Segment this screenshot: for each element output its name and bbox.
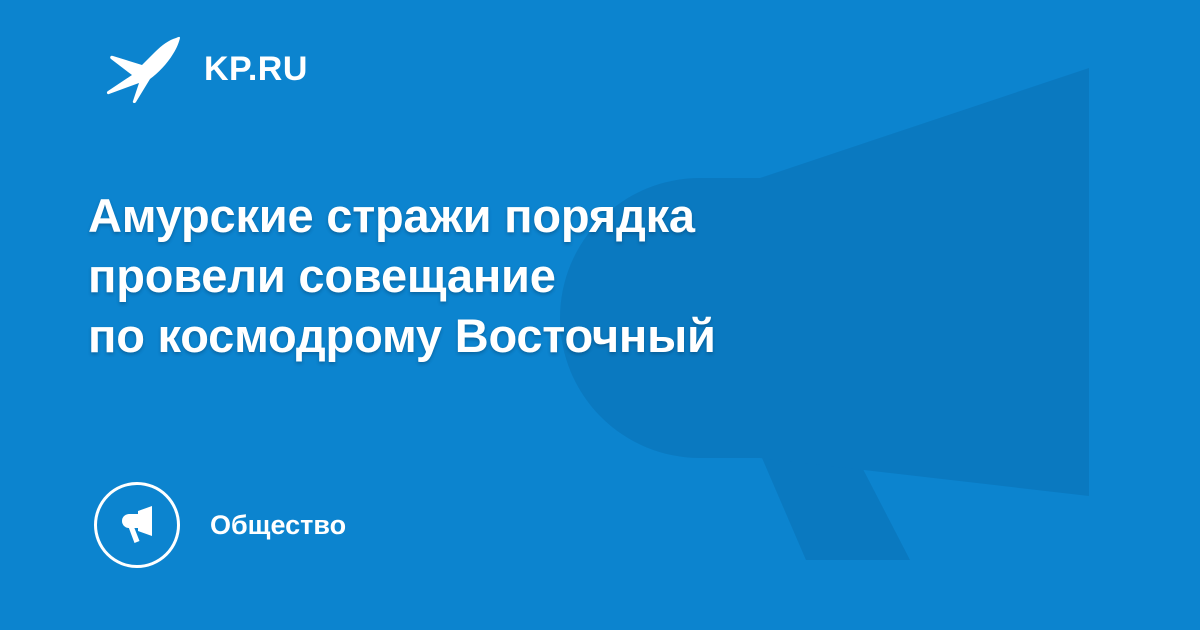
page-title-line-2: провели совещание bbox=[88, 246, 968, 306]
category-label: Общество bbox=[210, 512, 346, 539]
category-badge[interactable]: Общество bbox=[94, 482, 346, 568]
brand-name: KP.RU bbox=[204, 52, 308, 86]
page-title: Амурские стражи порядка провели совещани… bbox=[88, 186, 968, 366]
brand-logo[interactable]: KP.RU bbox=[106, 33, 308, 105]
page-title-line-3: по космодрому Восточный bbox=[88, 306, 968, 366]
page-title-line-1: Амурские стражи порядка bbox=[88, 186, 968, 246]
swallow-bird-icon bbox=[106, 35, 182, 103]
social-share-card: KP.RU Амурские стражи порядка провели со… bbox=[0, 0, 1200, 630]
megaphone-icon bbox=[94, 482, 180, 568]
